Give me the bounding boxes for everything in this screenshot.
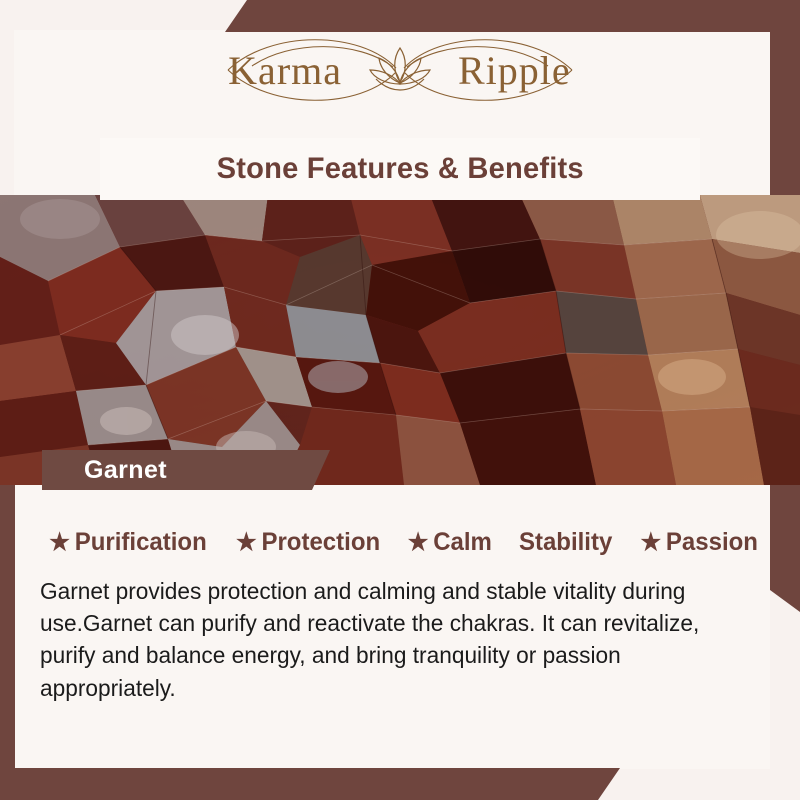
keyword-stability: ★ Stability: [519, 528, 612, 557]
keyword-protection: ★ Protection: [236, 528, 380, 557]
brand-name-right: Ripple: [458, 48, 571, 93]
star-icon: ★: [236, 531, 257, 555]
keyword-passion: ★ Passion: [640, 528, 757, 557]
frame-band-bottom: [0, 768, 620, 800]
star-icon: ★: [49, 531, 70, 555]
keyword-label: Calm: [434, 528, 493, 557]
brand-name-left: Karma: [228, 48, 342, 93]
stone-description: Garnet provides protection and calming a…: [40, 575, 731, 704]
keyword-purification: ★ Purification: [49, 528, 206, 557]
brand-logo: Karma Ripple: [0, 22, 800, 118]
stone-photo-art: [0, 195, 800, 485]
keyword-label: Protection: [262, 528, 381, 557]
keyword-label: Purification: [75, 528, 207, 557]
star-icon: ★: [640, 531, 661, 555]
brand-logo-svg: Karma Ripple: [190, 22, 610, 118]
keyword-calm: ★ Calm: [408, 528, 492, 557]
stone-name: Garnet: [84, 456, 167, 485]
stone-name-tag: Garnet: [42, 450, 330, 490]
benefit-keyword-row: ★ Purification ★ Protection ★ Calm ★ Sta…: [46, 528, 760, 557]
poster-root: Karma Ripple: [0, 0, 800, 800]
stone-photo: [0, 195, 800, 485]
star-icon: ★: [408, 531, 429, 555]
keyword-label: Stability: [519, 528, 612, 557]
frame-band-left: [0, 480, 15, 800]
keyword-label: Passion: [665, 528, 757, 557]
page-title: Stone Features & Benefits: [216, 152, 583, 186]
section-title-banner: Stone Features & Benefits: [100, 138, 700, 200]
